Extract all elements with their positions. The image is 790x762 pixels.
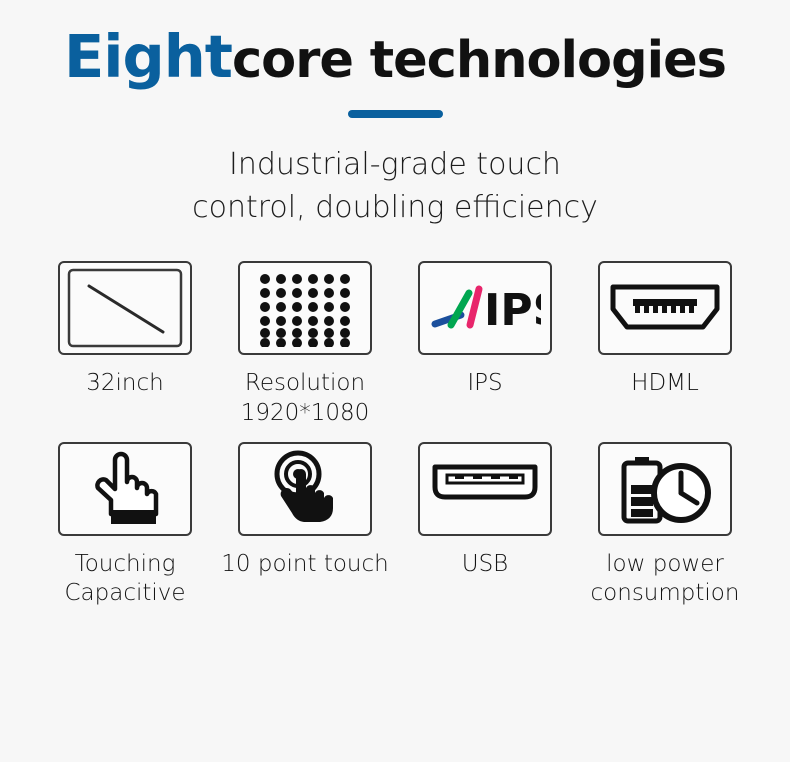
feature-label-line-2: Capacitive (64, 579, 185, 608)
icon-box-screen-size (58, 261, 192, 355)
icon-box-ips: IPS (418, 261, 552, 355)
ips-panel-icon: IPS (429, 277, 541, 339)
feature-grid: 32inch (0, 261, 790, 609)
feature-item-hdmi: HDML (580, 261, 750, 398)
feature-item-touching-capacitive: Touching Capacitive (40, 442, 210, 609)
feature-label-line-1: USB (462, 550, 509, 579)
feature-item-low-power: low power consumption (580, 442, 750, 609)
icon-box-usb (418, 442, 552, 536)
icon-box-touching-capacitive (58, 442, 192, 536)
feature-label-resolution: Resolution 1920*1080 (241, 369, 370, 428)
icon-box-ten-point-touch (238, 442, 372, 536)
feature-label-line-1: 32inch (86, 369, 163, 398)
feature-item-resolution: Resolution 1920*1080 (220, 261, 390, 428)
feature-label-touching-capacitive: Touching Capacitive (64, 550, 185, 609)
pixel-dot-grid-icon (253, 269, 357, 347)
page-subtitle-line-1: Industrial-grade touch (0, 144, 790, 187)
feature-label-line-1: IPS (467, 369, 502, 398)
feature-row-2: Touching Capacitive 10 point touch (40, 442, 750, 609)
feature-item-ten-point-touch: 10 point touch (220, 442, 390, 579)
feature-label-line-2: 1920*1080 (241, 399, 370, 428)
page-title: Eightcore technologies (0, 26, 790, 88)
feature-label-line-1: Resolution (241, 369, 370, 398)
svg-text:IPS: IPS (484, 285, 541, 336)
feature-label-line-1: Touching (64, 550, 185, 579)
usb-port-icon (429, 459, 541, 519)
icon-box-low-power (598, 442, 732, 536)
hdmi-port-icon (609, 283, 721, 333)
page-subtitle: Industrial-grade touch control, doubling… (0, 144, 790, 229)
feature-label-ips: IPS (467, 369, 502, 398)
screen-diagonal-icon (67, 268, 183, 348)
feature-label-low-power: low power consumption (591, 550, 740, 609)
battery-clock-icon (615, 451, 715, 527)
feature-label-line-1: HDML (631, 369, 699, 398)
feature-label-usb: USB (462, 550, 509, 579)
feature-item-screen-size: 32inch (40, 261, 210, 398)
pointing-hand-icon (89, 448, 161, 530)
feature-label-line-2: consumption (591, 579, 740, 608)
icon-box-resolution (238, 261, 372, 355)
feature-item-ips: IPS IPS (400, 261, 570, 398)
feature-row-1: 32inch (40, 261, 750, 428)
feature-item-usb: USB (400, 442, 570, 579)
feature-label-line-1: 10 point touch (221, 550, 388, 579)
icon-box-hdmi (598, 261, 732, 355)
page-title-rest: core technologies (232, 31, 726, 90)
feature-label-ten-point-touch: 10 point touch (221, 550, 388, 579)
page-header: Eightcore technologies Industrial-grade … (0, 0, 790, 229)
feature-label-line-1: low power (591, 550, 740, 579)
feature-label-hdmi: HDML (631, 369, 699, 398)
page-subtitle-line-2: control, doubling efficiency (0, 187, 790, 230)
touch-tap-ripple-icon (264, 448, 346, 530)
feature-label-screen-size: 32inch (86, 369, 163, 398)
title-divider (348, 110, 443, 118)
page-title-accent: Eight (64, 22, 232, 91)
